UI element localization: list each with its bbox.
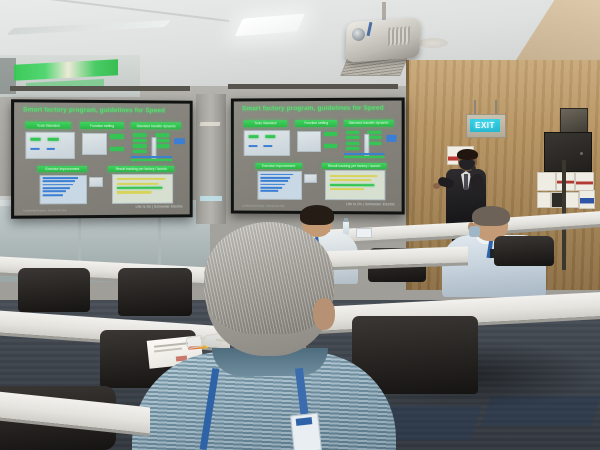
projector-vent <box>388 26 411 46</box>
chart-bar <box>330 175 377 177</box>
slide-chip <box>30 138 41 141</box>
chart-bar <box>43 180 75 182</box>
slide-chip <box>110 147 124 151</box>
slide-chip <box>155 133 169 136</box>
presenter-left-hand <box>433 183 440 189</box>
slide-chip <box>346 142 360 145</box>
wall-mounted-monitor <box>544 132 592 172</box>
pillar-blue-reflection <box>200 196 222 201</box>
slide-chip <box>46 148 55 150</box>
slide-chip <box>249 135 259 138</box>
slide-bar-chart <box>39 175 87 204</box>
slide-bar <box>131 159 173 161</box>
slide-chip <box>48 138 59 141</box>
attendee-foreground <box>150 228 378 450</box>
chart-bar <box>260 190 278 192</box>
slide-section-header: Tools Standard <box>244 120 287 127</box>
chart-bar <box>43 177 79 179</box>
attendee-right-hair <box>472 206 510 226</box>
pillar-light-reflection <box>200 122 221 126</box>
slide-title: Smart factory program, guidelines for Sp… <box>242 105 384 113</box>
slide-chip <box>133 150 147 153</box>
chart-bar <box>117 187 162 189</box>
slide-content: Smart factory program, guidelines for Sp… <box>234 101 402 212</box>
slide-section-header: Standard transfer dynamic <box>131 122 181 129</box>
slide-chip <box>368 131 382 134</box>
slide-callout <box>89 177 103 187</box>
slide-section-header: Result tracking per factory / launch <box>108 166 174 173</box>
office-chair <box>494 236 554 266</box>
slide-diagram-pane <box>244 130 291 156</box>
monitor-power-led-icon <box>580 152 583 155</box>
slide-section-header: Function setting <box>80 122 124 129</box>
chart-bar <box>117 191 152 193</box>
slide-footnote: Confidential Property - Internal Use Onl… <box>242 204 284 207</box>
screen-mount-rail <box>10 86 190 91</box>
slide-bar <box>131 156 173 158</box>
slide-chip <box>174 138 184 145</box>
slide-diagram-pane <box>25 132 75 159</box>
slide-chip <box>386 135 396 142</box>
slide-chip <box>346 136 360 139</box>
wall-pillar <box>196 94 226 224</box>
slide-bar <box>344 153 385 155</box>
slide-chip <box>133 139 147 142</box>
slide-chip <box>368 136 382 139</box>
slide-panel <box>82 133 107 155</box>
slide-chip <box>155 139 169 142</box>
slide-bar <box>344 156 385 158</box>
chart-bar <box>43 187 70 189</box>
slide-section-header: Exercise Improvement <box>255 163 302 170</box>
wall-notice <box>565 192 579 208</box>
attendee-foreground-ear <box>313 298 335 330</box>
chart-bar <box>43 194 63 196</box>
slide-panel <box>297 131 321 153</box>
slide-footnote: Confidential Property - Internal Use Onl… <box>23 209 67 212</box>
ceiling-downlight <box>418 38 448 48</box>
slide-chip <box>155 145 169 148</box>
chart-bar <box>117 178 166 180</box>
slide-title: Smart factory program, guidelines for Sp… <box>23 107 165 115</box>
chart-bar <box>260 183 285 185</box>
slide-section-header: Tools Standard <box>25 122 71 130</box>
slide-section-header: Function setting <box>295 120 337 127</box>
slide-chip <box>346 147 360 150</box>
slide-chip <box>133 144 147 147</box>
chart-bar <box>330 179 371 181</box>
slide-section-header: Result tracking per factory / launch <box>322 163 386 170</box>
slide-section-header: Standard transfer dynamic <box>344 119 393 126</box>
chart-bar <box>260 173 293 175</box>
slide-chip <box>264 145 272 147</box>
wall-notice <box>575 172 594 191</box>
screen-mount-rail <box>228 84 398 89</box>
slide-branding: Life Is On | Schneider Electric <box>346 202 395 206</box>
chart-bar <box>43 191 66 193</box>
attendee-center-hair <box>300 205 334 225</box>
slide-bar-chart <box>257 171 302 199</box>
wall-notice <box>537 172 556 191</box>
slide-chip <box>265 135 275 138</box>
chart-bar <box>43 184 73 186</box>
chart-bar <box>330 184 374 186</box>
chart-bar <box>330 188 364 190</box>
slide-chip <box>30 148 39 150</box>
wall-notice <box>537 192 551 208</box>
slide-chip <box>110 134 124 139</box>
exit-sign: EXIT <box>470 119 500 132</box>
slide-chip <box>324 144 337 148</box>
slide-chip <box>133 133 147 136</box>
slide-chip <box>249 145 257 147</box>
slide-chip <box>324 132 337 136</box>
slide-chip <box>346 131 360 134</box>
right-projection-screen: Smart factory program, guidelines for Sp… <box>231 97 405 214</box>
chart-bar <box>117 182 159 184</box>
presenter-tie <box>464 174 468 190</box>
slide-branding: Life Is On | Schneider Electric <box>136 205 183 209</box>
wall-notice <box>579 190 595 209</box>
seminar-room-photo: EXIT Smart factory program, guidelines f… <box>0 0 600 450</box>
left-projection-screen: Smart factory program, guidelines for Sp… <box>11 99 193 219</box>
slide-content: Smart factory program, guidelines for Sp… <box>14 102 190 215</box>
chart-bar <box>260 177 290 179</box>
slide-section-header: Exercise Improvement <box>37 166 87 173</box>
chart-bar <box>260 180 288 182</box>
face-mask-icon <box>469 226 480 237</box>
slide-chip <box>368 142 382 145</box>
presenter-hair <box>457 149 478 160</box>
slide-callout <box>304 174 318 184</box>
chart-bar <box>260 187 282 189</box>
office-chair <box>18 268 90 312</box>
